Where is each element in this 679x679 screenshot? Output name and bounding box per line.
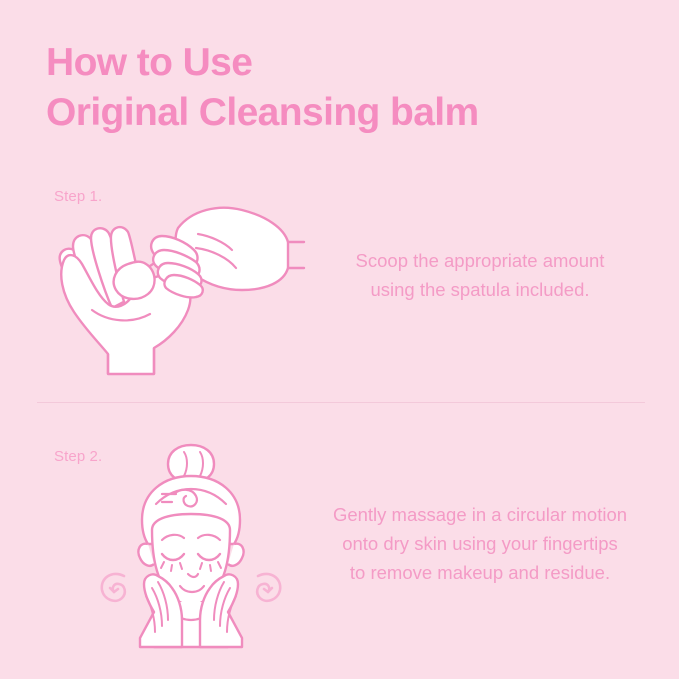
step-1-description-line-2: using the spatula included. [320,275,640,304]
section-divider [37,402,645,403]
step-1-description: Scoop the appropriate amount using the s… [320,246,640,304]
page-title-line-2: Original Cleansing balm [46,88,646,138]
hands-with-spatula-icon [46,198,306,378]
page-title-line-1: How to Use [46,38,646,88]
page-title: How to Use Original Cleansing balm [46,38,646,138]
step-2-description-line-3: to remove makeup and residue. [300,558,660,587]
step-1-description-line-1: Scoop the appropriate amount [320,246,640,275]
step-1-section: Step 1. [0,178,679,388]
step-2-description-line-2: onto dry skin using your fingertips [300,529,660,558]
left-swirl [102,574,125,601]
how-to-use-infographic: How to Use Original Cleansing balm Step … [0,0,679,679]
woman-massaging-face-icon [96,442,286,647]
step-2-description-line-1: Gently massage in a circular motion [300,500,660,529]
step-2-description: Gently massage in a circular motion onto… [300,500,660,587]
step-2-section: Step 2. [0,438,679,648]
step-2-label: Step 2. [54,448,102,465]
right-swirl [257,574,280,601]
